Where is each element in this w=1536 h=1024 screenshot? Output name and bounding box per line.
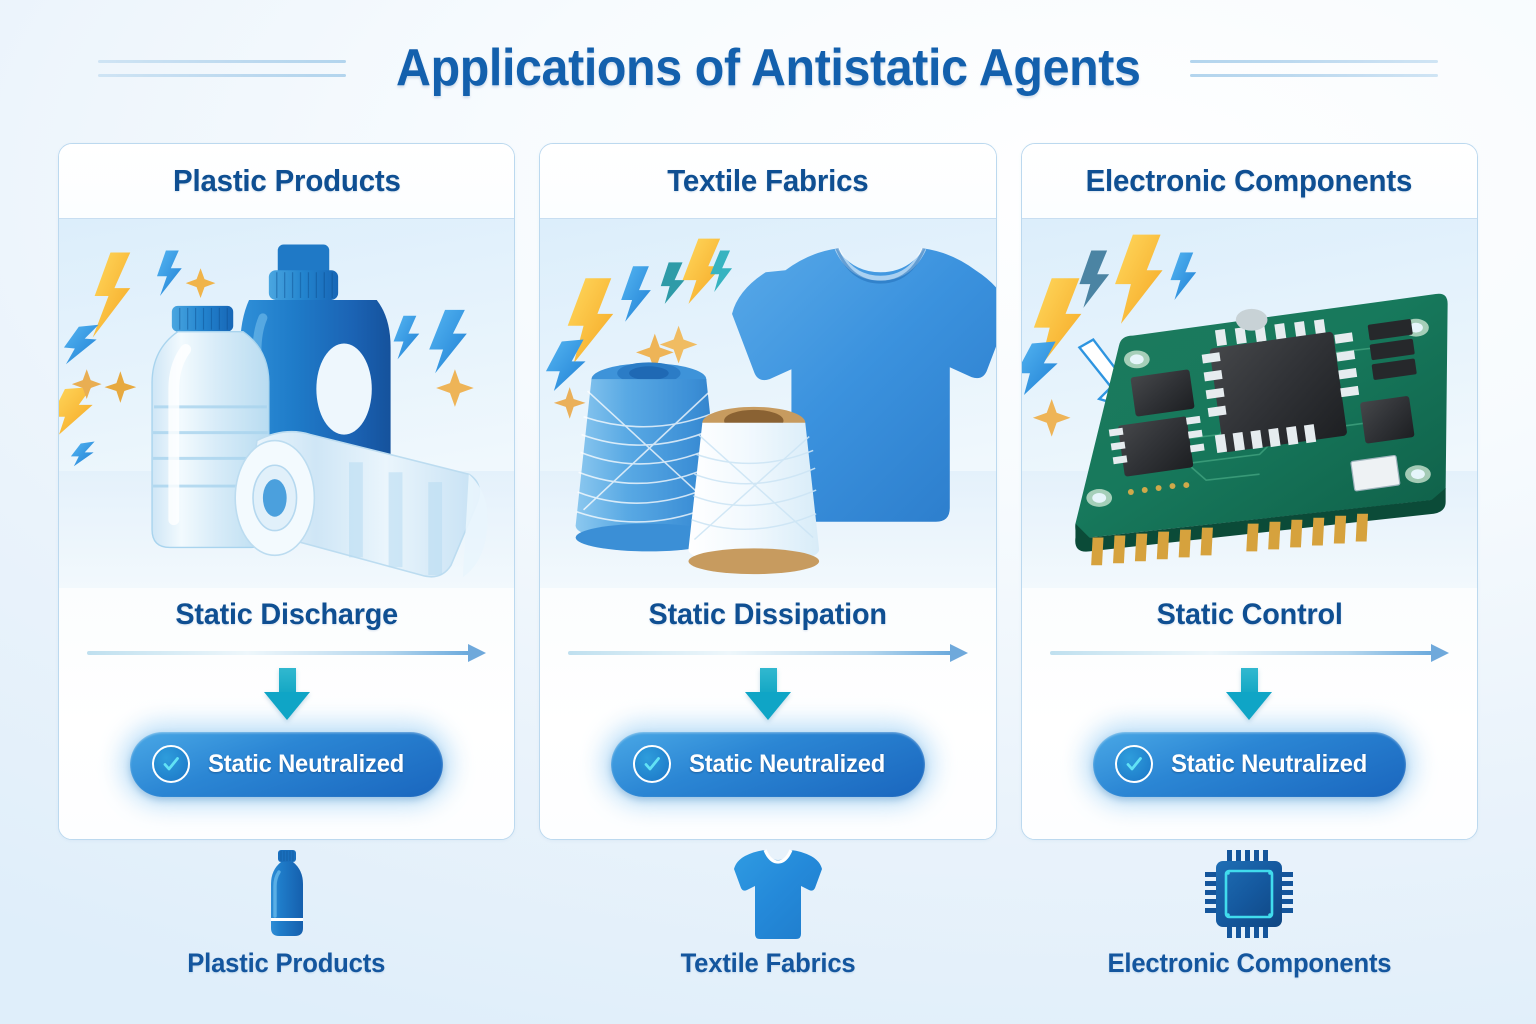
- card-electronic-components[interactable]: Electronic Components: [1021, 143, 1478, 840]
- check-circle-icon: [633, 745, 671, 783]
- down-arrow-stem: [1241, 668, 1258, 694]
- illustration-plastic-products: [59, 219, 514, 589]
- card-title: Plastic Products: [173, 163, 401, 199]
- card-plastic-products[interactable]: Plastic Products: [58, 143, 515, 840]
- plastic-film-roll-illustration: [235, 432, 488, 577]
- badge-label: Static Neutralized: [208, 750, 404, 779]
- small-chip: [1130, 369, 1194, 416]
- title-bar: Applications of Antistatic Agents: [0, 26, 1536, 110]
- flow-section: Static Control Static Neutralized: [1022, 588, 1477, 839]
- progress-arrow-icon: [1050, 646, 1449, 660]
- status-badge-static-neutralized[interactable]: Static Neutralized: [611, 732, 924, 797]
- title-rule-line: [98, 60, 346, 63]
- footer-label: Plastic Products: [188, 948, 386, 979]
- flow-section: Static Discharge Static Neutralized: [59, 588, 514, 839]
- badge-container: Static Neutralized: [1022, 732, 1477, 797]
- bottle-icon: [259, 848, 315, 940]
- progress-arrow-tip: [1431, 644, 1449, 662]
- check-circle-icon: [1115, 745, 1153, 783]
- footer-item-electronic-components: Electronic Components: [1021, 848, 1478, 1008]
- tshirt-icon: [713, 848, 823, 940]
- footer-item-textile-fabrics: Textile Fabrics: [539, 848, 996, 1008]
- footer-label: Electronic Components: [1107, 948, 1391, 979]
- check-circle-icon: [152, 745, 190, 783]
- footer-row: Plastic Products Textile Fabrics: [58, 848, 1478, 1008]
- static-spark-group: [394, 310, 474, 407]
- progress-arrow-bar: [1050, 651, 1433, 655]
- card-header: Plastic Products: [59, 144, 514, 219]
- badge-label: Static Neutralized: [1171, 750, 1367, 779]
- footer-label: Textile Fabrics: [681, 948, 856, 979]
- card-header: Textile Fabrics: [540, 144, 995, 219]
- white-yarn-spool-illustration: [689, 407, 820, 574]
- page-title: Applications of Antistatic Agents: [396, 38, 1141, 98]
- progress-arrow-tip: [468, 644, 486, 662]
- illustration-textile-fabrics: [540, 219, 995, 589]
- card-title: Electronic Components: [1086, 163, 1413, 199]
- progress-arrow-tip: [950, 644, 968, 662]
- microchip-icon: [1203, 848, 1295, 940]
- down-arrow-stem: [760, 668, 777, 694]
- down-arrow-icon: [745, 668, 791, 720]
- card-textile-fabrics[interactable]: Textile Fabrics: [539, 143, 996, 840]
- badge-label: Static Neutralized: [690, 750, 886, 779]
- electronic-components-scene: [1022, 219, 1477, 589]
- badge-container: Static Neutralized: [540, 732, 995, 797]
- title-rule-line: [98, 74, 346, 77]
- progress-arrow-bar: [568, 651, 951, 655]
- title-rule-left: [98, 60, 346, 77]
- flow-label: Static Control: [1031, 588, 1468, 632]
- progress-arrow-icon: [568, 646, 967, 660]
- badge-container: Static Neutralized: [59, 732, 514, 797]
- circuit-board-illustration: [1075, 294, 1447, 566]
- status-badge-static-neutralized[interactable]: Static Neutralized: [1093, 732, 1406, 797]
- illustration-electronic-components: [1022, 219, 1477, 589]
- plastic-products-scene: [59, 219, 514, 589]
- main-processor-chip: [1201, 319, 1358, 453]
- progress-arrow-bar: [87, 651, 470, 655]
- down-arrow-stem: [279, 668, 296, 694]
- flow-label: Static Dissipation: [549, 588, 986, 632]
- footer-item-plastic-products: Plastic Products: [58, 848, 515, 1008]
- down-arrow-icon: [1226, 668, 1272, 720]
- down-arrow-head: [1226, 692, 1272, 720]
- down-arrow-head: [264, 692, 310, 720]
- cards-row: Plastic Products: [58, 143, 1478, 840]
- textile-fabrics-scene: [540, 219, 995, 589]
- card-title: Textile Fabrics: [667, 163, 868, 199]
- progress-arrow-icon: [87, 646, 486, 660]
- title-rule-line: [1190, 60, 1438, 63]
- down-arrow-icon: [264, 668, 310, 720]
- card-header: Electronic Components: [1022, 144, 1477, 219]
- status-badge-static-neutralized[interactable]: Static Neutralized: [130, 732, 443, 797]
- title-rule-right: [1190, 60, 1438, 77]
- flow-label: Static Discharge: [68, 588, 505, 632]
- title-rule-line: [1190, 74, 1438, 77]
- flow-section: Static Dissipation Static Neutralized: [540, 588, 995, 839]
- down-arrow-head: [745, 692, 791, 720]
